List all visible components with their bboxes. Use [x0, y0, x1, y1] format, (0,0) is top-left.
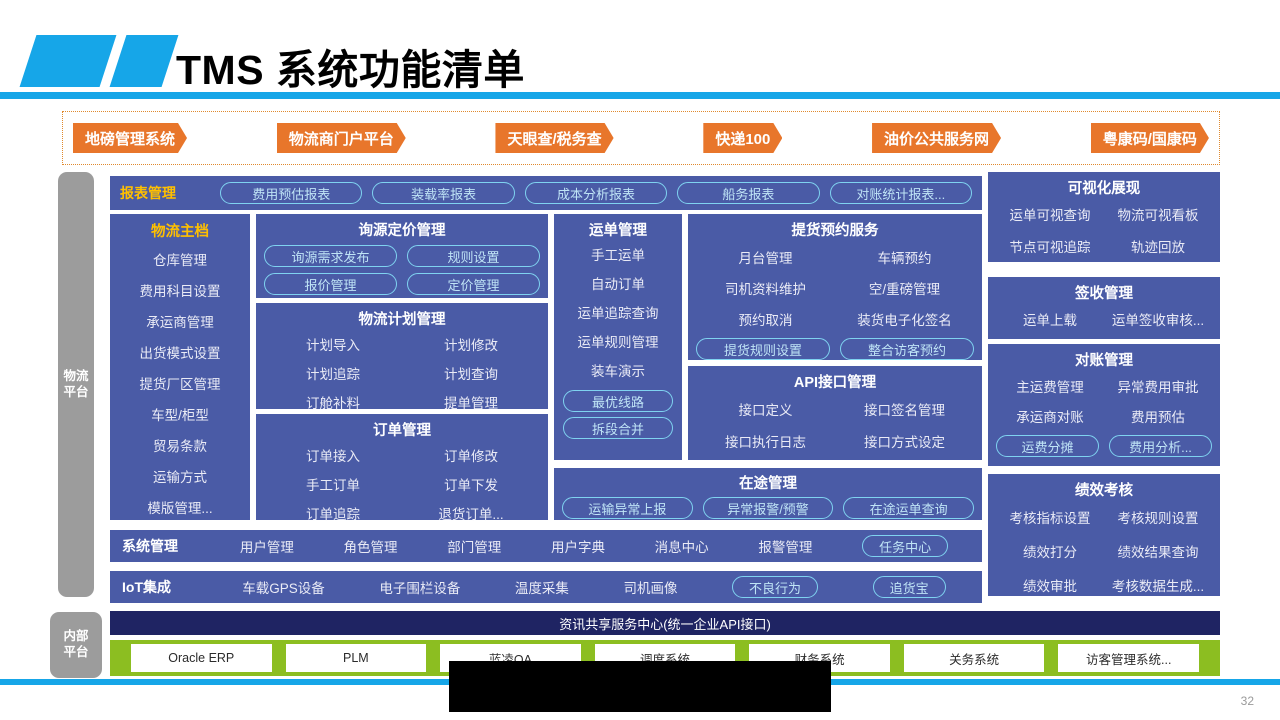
card-title: API接口管理: [696, 371, 974, 392]
list-item[interactable]: 轨迹回放: [1104, 234, 1212, 262]
external-system-chip[interactable]: 天眼查/税务查: [495, 123, 613, 153]
system-management-row: 系统管理 用户管理 角色管理 部门管理 用户字典 消息中心 报警管理 任务中心: [110, 530, 982, 562]
list-item[interactable]: 运单可视查询: [996, 202, 1104, 230]
card-title: 对账管理: [996, 349, 1212, 370]
card-title: 物流主档: [151, 220, 209, 241]
performance-item-grid: 考核指标设置 考核规则设置 绩效打分 绩效结果查询 绩效审批 考核数据生成...: [996, 504, 1212, 602]
shared-api-service-bar: 资讯共享服务中心(统一企业API接口): [110, 611, 1220, 635]
list-item[interactable]: 退货订单...: [402, 502, 540, 527]
external-system-chip[interactable]: 快递100: [703, 123, 782, 153]
list-item[interactable]: 手工运单: [591, 243, 645, 269]
list-item[interactable]: 用户字典: [551, 536, 605, 556]
list-item[interactable]: 绩效审批: [996, 572, 1104, 602]
list-item[interactable]: 司机画像: [623, 577, 677, 597]
list-item[interactable]: 考核规则设置: [1104, 504, 1212, 534]
list-item[interactable]: 订单接入: [264, 444, 402, 469]
list-item[interactable]: 接口定义: [696, 398, 835, 424]
redaction-overlay: [449, 661, 831, 712]
rail-label-line1: 物流: [63, 369, 88, 383]
list-item[interactable]: 计划修改: [402, 333, 540, 358]
list-item[interactable]: 计划追踪: [264, 362, 402, 387]
list-item[interactable]: 费用预估: [1104, 404, 1212, 431]
card-title: 运单管理: [589, 219, 647, 240]
card-logistics-master-data: 物流主档 仓库管理 费用科目设置 承运商管理 出货模式设置 提货厂区管理 车型/…: [110, 214, 250, 520]
list-item[interactable]: 考核数据生成...: [1104, 572, 1212, 602]
card-title: 物流计划管理: [264, 308, 540, 329]
list-item[interactable]: 自动订单: [591, 272, 645, 298]
card-visualization: 可视化展现 运单可视查询 物流可视看板 节点可视追踪 轨迹回放: [988, 172, 1220, 262]
internal-system-box[interactable]: PLM: [286, 644, 427, 672]
waybill-pill[interactable]: 最优线路: [563, 390, 673, 412]
rail-label-line2: 平台: [63, 645, 88, 659]
pricing-pill[interactable]: 规则设置: [407, 245, 540, 267]
list-item[interactable]: 消息中心: [655, 536, 709, 556]
card-title: 询源定价管理: [264, 219, 540, 240]
report-pill[interactable]: 船务报表: [677, 182, 819, 204]
system-row-items: 用户管理 角色管理 部门管理 用户字典 消息中心 报警管理 任务中心: [218, 535, 970, 557]
list-item[interactable]: 部门管理: [447, 536, 501, 556]
card-api-interface-management: API接口管理 接口定义 接口签名管理 接口执行日志 接口方式设定: [688, 366, 982, 460]
external-system-chip[interactable]: 地磅管理系统: [73, 123, 187, 153]
iot-pill[interactable]: 追货宝: [873, 576, 946, 598]
list-item[interactable]: 月台管理: [696, 244, 835, 273]
list-item[interactable]: 出货模式设置: [140, 339, 221, 368]
list-item[interactable]: 模版管理...: [147, 494, 212, 523]
reconciliation-pill-group: 运费分摊 费用分析...: [996, 435, 1212, 457]
list-item[interactable]: 贸易条款: [153, 432, 207, 461]
card-title: 签收管理: [996, 282, 1212, 303]
list-item[interactable]: 温度采集: [515, 577, 569, 597]
list-item[interactable]: 仓库管理: [153, 246, 207, 275]
pricing-pill-grid: 询源需求发布 规则设置 报价管理 定价管理: [264, 245, 540, 295]
report-pill[interactable]: 对账统计报表...: [830, 182, 972, 204]
list-item[interactable]: 车载GPS设备: [242, 577, 325, 597]
card-in-transit-management: 在途管理 运输异常上报 异常报警/预警 在途运单查询: [554, 468, 982, 520]
transit-pill[interactable]: 运输异常上报: [562, 497, 693, 519]
pricing-pill[interactable]: 报价管理: [264, 273, 397, 295]
list-item[interactable]: 承运商管理: [146, 308, 214, 337]
plan-item-grid: 计划导入 计划修改 计划追踪 计划查询 订舱补料 提单管理: [264, 333, 540, 416]
system-pill[interactable]: 任务中心: [862, 535, 948, 557]
list-item[interactable]: 装车演示: [591, 359, 645, 385]
list-item[interactable]: 订单修改: [402, 444, 540, 469]
internal-system-box[interactable]: 访客管理系统...: [1058, 644, 1199, 672]
list-item[interactable]: 装货电子化签名: [835, 306, 974, 335]
list-item[interactable]: 承运商对账: [996, 404, 1104, 431]
list-item[interactable]: 物流可视看板: [1104, 202, 1212, 230]
list-item[interactable]: 考核指标设置: [996, 504, 1104, 534]
page-title: TMS 系统功能清单: [176, 36, 525, 96]
list-item[interactable]: 车辆预约: [835, 244, 974, 273]
report-pill[interactable]: 费用预估报表: [220, 182, 362, 204]
list-item[interactable]: 主运费管理: [996, 374, 1104, 401]
signoff-item-grid: 运单上载 运单签收审核...: [996, 309, 1212, 333]
list-item[interactable]: 司机资料维护: [696, 275, 835, 304]
card-title: 提货预约服务: [696, 219, 974, 240]
list-item[interactable]: 订单下发: [402, 473, 540, 498]
reconciliation-pill[interactable]: 运费分摊: [996, 435, 1099, 457]
list-item[interactable]: 车型/柜型: [151, 401, 209, 430]
list-item[interactable]: 接口方式设定: [835, 430, 974, 456]
iot-pill[interactable]: 不良行为: [732, 576, 818, 598]
list-item[interactable]: 异常费用审批: [1104, 374, 1212, 401]
rail-label-line1: 内部: [63, 629, 88, 643]
list-item[interactable]: 手工订单: [264, 473, 402, 498]
report-row-label: 报表管理: [120, 183, 220, 203]
iot-integration-row: IoT集成 车载GPS设备 电子围栏设备 温度采集 司机画像 不良行为 追货宝: [110, 571, 982, 603]
list-item[interactable]: 费用科目设置: [140, 277, 221, 306]
api-item-grid: 接口定义 接口签名管理 接口执行日志 接口方式设定: [696, 398, 974, 456]
reconciliation-item-grid: 主运费管理 异常费用审批 承运商对账 费用预估: [996, 374, 1212, 431]
list-item[interactable]: 运单追踪查询: [578, 301, 659, 327]
pickup-item-grid: 月台管理 车辆预约 司机资料维护 空/重磅管理 预约取消 装货电子化签名: [696, 244, 974, 335]
top-accent-rule: [0, 92, 1280, 99]
card-order-management: 订单管理 订单接入 订单修改 手工订单 订单下发 订单追踪 退货订单...: [256, 414, 548, 520]
slide-root: TMS 系统功能清单 地磅管理系统 物流商门户平台 天眼查/税务查 快递100 …: [0, 0, 1280, 720]
transit-pill[interactable]: 异常报警/预警: [703, 497, 834, 519]
list-item[interactable]: 绩效结果查询: [1104, 538, 1212, 568]
card-signoff-management: 签收管理 运单上载 运单签收审核...: [988, 277, 1220, 339]
list-item[interactable]: 计划导入: [264, 333, 402, 358]
system-row-label: 系统管理: [122, 536, 218, 556]
transit-pill[interactable]: 在途运单查询: [843, 497, 974, 519]
internal-system-box[interactable]: 关务系统: [904, 644, 1045, 672]
rail-label-line2: 平台: [63, 385, 88, 399]
card-title: 可视化展现: [996, 177, 1212, 198]
list-item[interactable]: 提单管理: [402, 391, 540, 416]
external-system-chip[interactable]: 粤康码/国康码: [1091, 123, 1209, 153]
iot-row-label: IoT集成: [122, 577, 218, 597]
list-item[interactable]: 绩效打分: [996, 538, 1104, 568]
card-title: 在途管理: [562, 472, 974, 493]
list-item[interactable]: 报警管理: [758, 536, 812, 556]
logo-parallelogram-icon: [14, 35, 174, 87]
card-reconciliation-management: 对账管理 主运费管理 异常费用审批 承运商对账 费用预估 运费分摊 费用分析..…: [988, 344, 1220, 466]
order-item-grid: 订单接入 订单修改 手工订单 订单下发 订单追踪 退货订单...: [264, 444, 540, 527]
card-logistics-plan-management: 物流计划管理 计划导入 计划修改 计划追踪 计划查询 订舱补料 提单管理: [256, 303, 548, 409]
report-pill-group: 费用预估报表 装载率报表 成本分析报表 船务报表 对账统计报表...: [220, 182, 972, 204]
list-item[interactable]: 接口签名管理: [835, 398, 974, 424]
card-title: 订单管理: [264, 419, 540, 440]
list-item[interactable]: 提货厂区管理: [140, 370, 221, 399]
external-system-chip[interactable]: 油价公共服务网: [872, 123, 1001, 153]
list-item[interactable]: 节点可视追踪: [996, 234, 1104, 262]
pricing-pill[interactable]: 定价管理: [407, 273, 540, 295]
list-item[interactable]: 角色管理: [344, 536, 398, 556]
card-pickup-appointment-service: 提货预约服务 月台管理 车辆预约 司机资料维护 空/重磅管理 预约取消 装货电子…: [688, 214, 982, 360]
list-item[interactable]: 订舱补料: [264, 391, 402, 416]
transit-pill-group: 运输异常上报 异常报警/预警 在途运单查询: [562, 497, 974, 519]
report-pill[interactable]: 装载率报表: [372, 182, 514, 204]
list-item[interactable]: 用户管理: [240, 536, 294, 556]
pickup-pill-group: 提货规则设置 整合访客预约: [696, 338, 974, 360]
card-performance-appraisal: 绩效考核 考核指标设置 考核规则设置 绩效打分 绩效结果查询 绩效审批 考核数据…: [988, 474, 1220, 596]
visualization-item-grid: 运单可视查询 物流可视看板 节点可视追踪 轨迹回放: [996, 202, 1212, 262]
list-item[interactable]: 空/重磅管理: [835, 275, 974, 304]
external-system-chip[interactable]: 物流商门户平台: [277, 123, 406, 153]
iot-row-items: 车载GPS设备 电子围栏设备 温度采集 司机画像 不良行为 追货宝: [218, 576, 970, 598]
pricing-pill[interactable]: 询源需求发布: [264, 245, 397, 267]
pickup-pill[interactable]: 提货规则设置: [696, 338, 830, 360]
external-systems-group: 地磅管理系统 物流商门户平台 天眼查/税务查 快递100 油价公共服务网 粤康码…: [62, 111, 1220, 165]
pickup-pill[interactable]: 整合访客预约: [840, 338, 974, 360]
report-management-row: 报表管理 费用预估报表 装载率报表 成本分析报表 船务报表 对账统计报表...: [110, 176, 982, 210]
list-item[interactable]: 运输方式: [153, 463, 207, 492]
list-item[interactable]: 电子围栏设备: [379, 577, 460, 597]
list-item[interactable]: 运单规则管理: [578, 330, 659, 356]
list-item[interactable]: 预约取消: [696, 306, 835, 335]
list-item[interactable]: 计划查询: [402, 362, 540, 387]
report-pill[interactable]: 成本分析报表: [525, 182, 667, 204]
list-item[interactable]: 接口执行日志: [696, 430, 835, 456]
rail-internal-platform: 内部平台: [50, 612, 102, 678]
list-item[interactable]: 运单上载: [996, 309, 1104, 333]
list-item[interactable]: 订单追踪: [264, 502, 402, 527]
card-waybill-management: 运单管理 手工运单 自动订单 运单追踪查询 运单规则管理 装车演示 最优线路 拆…: [554, 214, 682, 460]
rail-logistics-platform: 物流平台: [58, 172, 94, 597]
card-title: 绩效考核: [996, 479, 1212, 500]
reconciliation-pill[interactable]: 费用分析...: [1109, 435, 1212, 457]
card-source-pricing-management: 询源定价管理 询源需求发布 规则设置 报价管理 定价管理: [256, 214, 548, 298]
internal-system-box[interactable]: Oracle ERP: [131, 644, 272, 672]
page-number: 32: [1241, 694, 1254, 708]
waybill-pill[interactable]: 拆段合并: [563, 417, 673, 439]
list-item[interactable]: 运单签收审核...: [1104, 309, 1212, 333]
